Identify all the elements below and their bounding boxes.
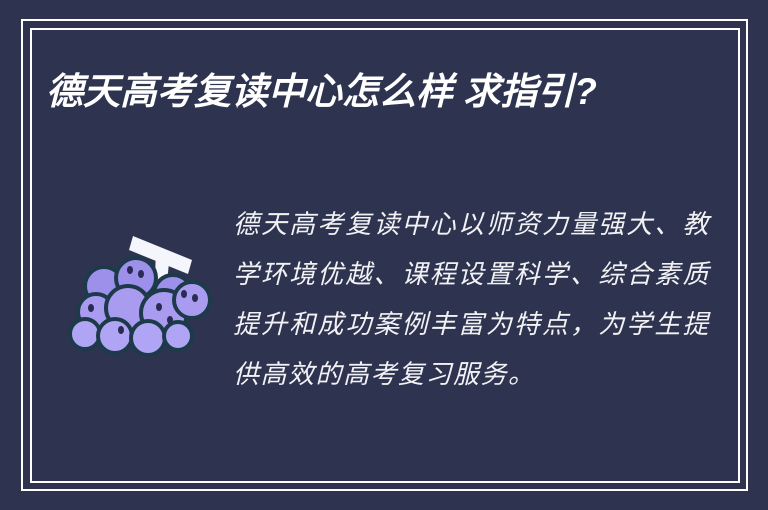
content-row: 德天高考复读中心以师资力量强大、教学环境优越、课程设置科学、综合素质提升和成功案… (60, 200, 710, 400)
grape-cluster-icon (60, 208, 215, 358)
poster-canvas: 德天高考复读中心怎么样 求指引? (0, 0, 768, 510)
body-paragraph: 德天高考复读中心以师资力量强大、教学环境优越、课程设置科学、综合素质提升和成功案… (233, 200, 710, 400)
page-title: 德天高考复读中心怎么样 求指引? (46, 64, 686, 120)
